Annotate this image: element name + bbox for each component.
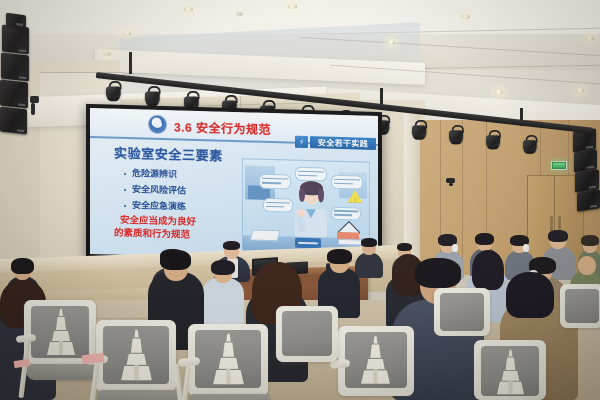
- chair-seat[interactable]: [26, 364, 98, 380]
- attendee-hair: [160, 250, 191, 270]
- chair-seat[interactable]: [98, 390, 178, 400]
- face-mask: [452, 244, 458, 252]
- attendee-hair-long: [472, 250, 504, 290]
- attendee-hair: [361, 238, 377, 247]
- camera-lens-icon: [449, 183, 453, 186]
- speech-bubble: [331, 175, 363, 190]
- illus-person-hair: [318, 188, 324, 202]
- speaker-module: [0, 107, 27, 135]
- eiffel-tower-motif-icon: [46, 308, 76, 356]
- downlight: [495, 90, 503, 95]
- speaker-module: [0, 80, 28, 109]
- attendee-hair: [211, 260, 235, 275]
- truss-drop-rod: [129, 52, 132, 74]
- university-emblem-icon: [148, 115, 167, 135]
- bullet-item: 危险源辨识: [124, 167, 186, 183]
- flash-icon: ⚡: [295, 136, 308, 148]
- eiffel-tower-motif-icon: [212, 332, 245, 386]
- projection-screen: 3.6 安全行为规范 ⚡ 安全若干实践 实验室安全三要素 危险源辨识 安全风险评…: [90, 108, 378, 262]
- downlight: [123, 31, 131, 36]
- chair-seat[interactable]: [190, 394, 270, 400]
- speaker-module: [1, 53, 29, 82]
- slide-red-text-line2: 的素质和行为规范: [114, 228, 190, 242]
- chair-mesh-panel: [565, 289, 599, 323]
- downlight: [576, 88, 584, 93]
- chair-mesh-panel: [440, 293, 484, 331]
- downlight: [288, 4, 297, 9]
- eiffel-tower-motif-icon: [496, 348, 525, 396]
- bullet-item: 安全应急演练: [124, 199, 186, 215]
- illus-person-hair: [299, 188, 305, 202]
- smoke-detector-icon: [236, 12, 243, 16]
- slide-bullet-list: 危险源辨识 安全风险评估 安全应急演练: [124, 167, 186, 217]
- attendee-hair: [581, 235, 599, 246]
- illus-paper: [250, 230, 281, 242]
- attendee-hair: [327, 249, 352, 264]
- attendee-torso: [202, 278, 244, 326]
- exit-sign: [551, 161, 567, 170]
- presenter-hair: [223, 241, 240, 250]
- slide-red-text-line1: 安全应当成为良好: [120, 215, 196, 229]
- speaker-module: [2, 25, 29, 55]
- speech-bubble: [295, 167, 327, 182]
- attendee-hair: [11, 258, 34, 274]
- slide-title: 3.6 安全行为规范: [174, 118, 271, 138]
- attendee-hair: [548, 230, 568, 242]
- slide-heading: 实验室安全三要素: [114, 143, 223, 165]
- downlight: [184, 7, 193, 12]
- attendee-hair-long: [506, 272, 554, 318]
- downlight: [387, 40, 395, 45]
- lecture-hall-scene: 3.6 安全行为规范 ⚡ 安全若干实践 实验室安全三要素 危险源辨识 安全风险评…: [0, 0, 600, 400]
- speech-bubble: [259, 174, 291, 190]
- illus-tablet: [295, 238, 321, 249]
- lab-safety-illustration: !: [242, 158, 370, 256]
- camera-mount: [31, 103, 35, 115]
- attendee-head: [578, 256, 596, 275]
- illus-person-hand: [298, 209, 305, 217]
- wood-seam: [462, 120, 463, 275]
- speech-bubble: [331, 207, 361, 221]
- speech-bubble: [263, 198, 293, 213]
- attendee-hair: [475, 233, 494, 245]
- chair-mesh-panel: [282, 311, 332, 356]
- ceiling-camera-icon: [30, 96, 39, 103]
- eiffel-tower-motif-icon: [360, 334, 391, 386]
- downlight: [585, 36, 594, 41]
- smoke-detector-icon: [104, 52, 112, 56]
- speaker-module: [577, 189, 600, 211]
- slide-badge: 安全若干实践: [310, 136, 376, 150]
- attendee-hair: [397, 243, 412, 251]
- downlight: [461, 14, 470, 19]
- face-mask: [523, 244, 529, 252]
- attendee-hair: [415, 258, 461, 288]
- speaker-module: [6, 13, 26, 29]
- attendee-torso: [355, 252, 383, 278]
- illus-paper: [338, 239, 362, 246]
- eiffel-tower-motif-icon: [120, 328, 153, 382]
- bullet-item: 安全风险评估: [124, 183, 186, 199]
